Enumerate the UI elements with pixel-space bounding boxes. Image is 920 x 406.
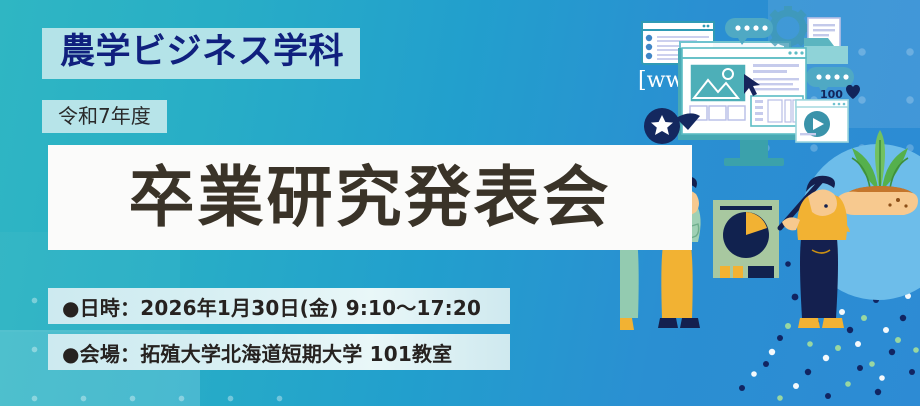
svg-text:100: 100 (820, 88, 843, 101)
info-venue-text: ●会場：拓殖大学北海道短期大学 101教室 (48, 338, 452, 367)
main-title-text: 卒業研究発表会 (129, 165, 612, 231)
desktop-monitor-icon (678, 48, 806, 166)
info-date-text: ●日時：2026年1月30日(金) 9:10〜17:20 (48, 292, 481, 321)
play-button-icon (796, 100, 848, 142)
info-row-venue: ●会場：拓殖大学北海道短期大学 101教室 (48, 334, 510, 370)
document-folder-icon (804, 18, 848, 64)
department-label: 農学ビジネス学科 (42, 28, 360, 79)
chat-bubble-icon (725, 18, 773, 45)
heart-like-icon: 100 (820, 85, 860, 101)
main-title-box: 卒業研究発表会 (48, 145, 692, 250)
pie-chart-board-icon (713, 200, 779, 278)
event-banner: [www (0, 0, 920, 406)
info-row-date: ●日時：2026年1月30日(金) 9:10〜17:20 (48, 288, 510, 324)
image-placeholder-icon (690, 64, 746, 102)
era-year-label: 令和7年度 (42, 100, 167, 133)
